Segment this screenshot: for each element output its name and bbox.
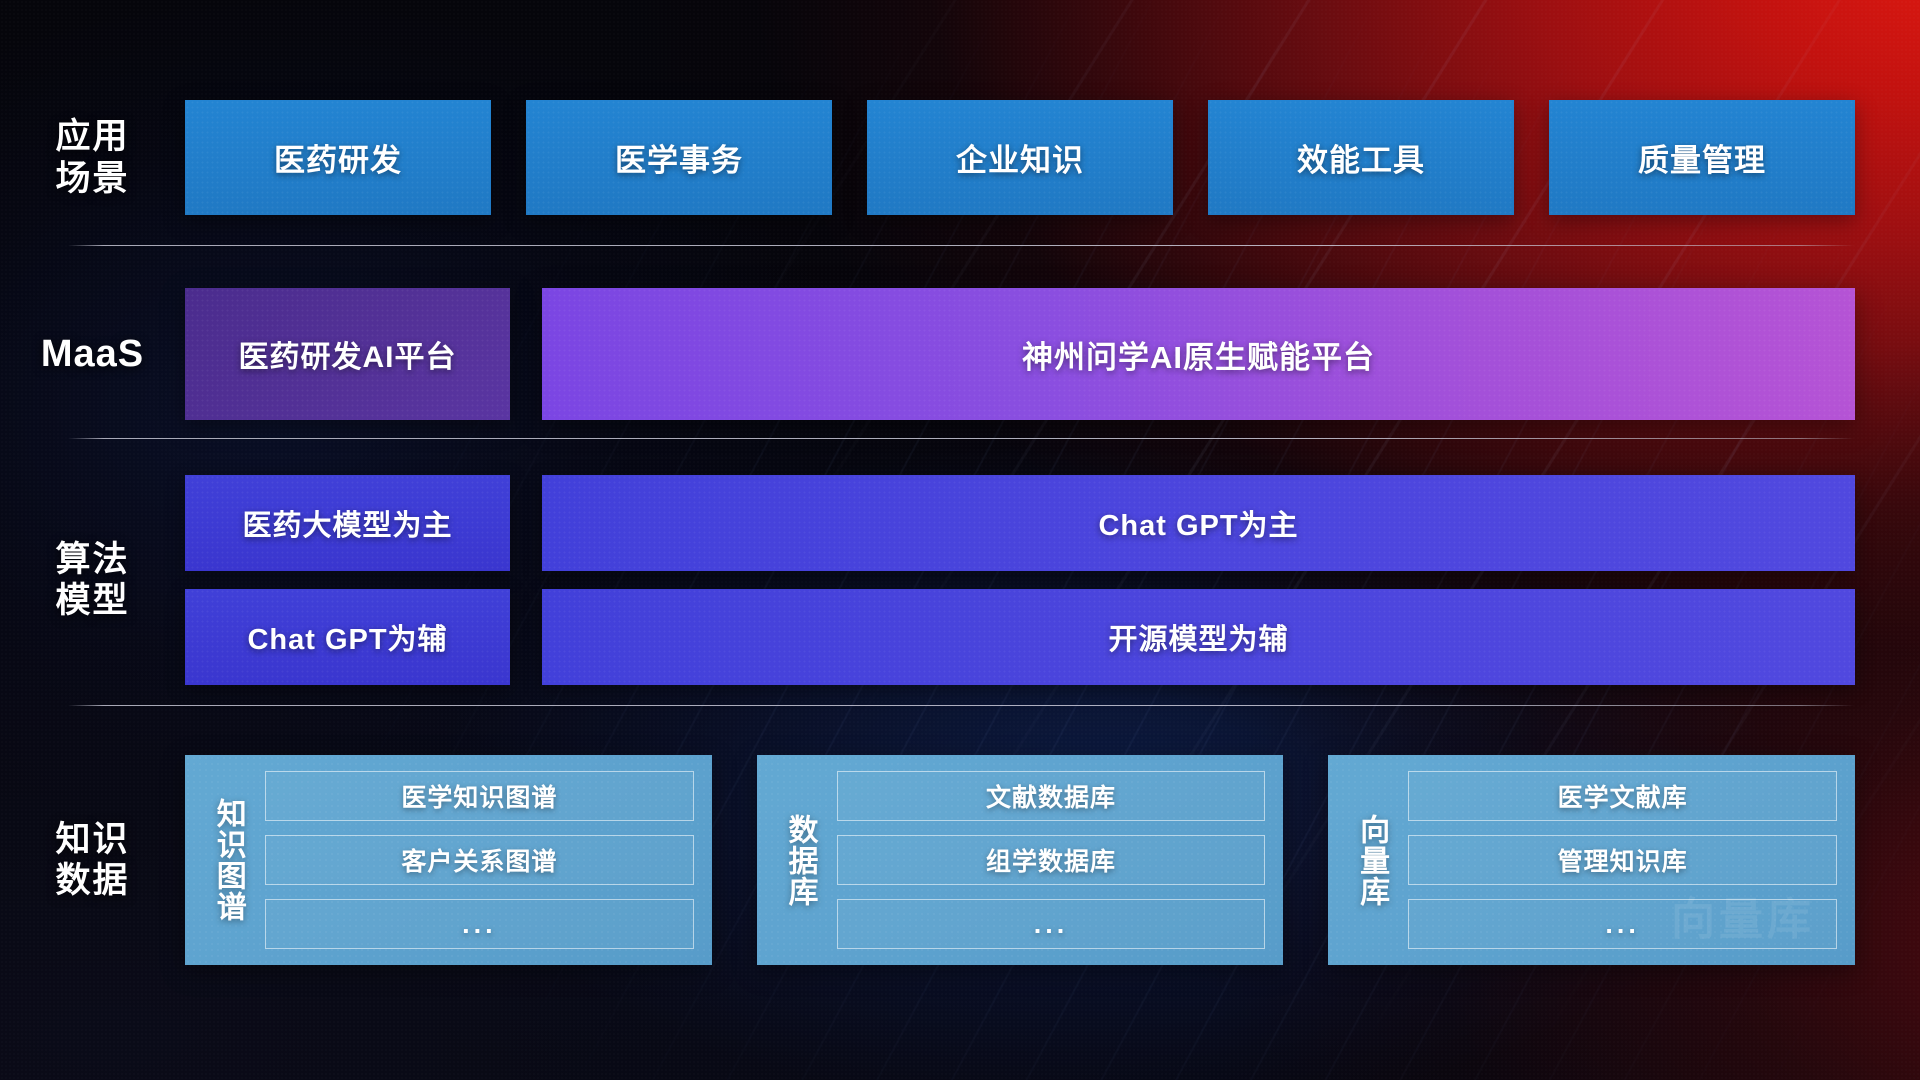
row-label-knowledge-data: 知识 数据 bbox=[0, 819, 185, 902]
row-knowledge-data: 知识 数据 知识图谱 医学知识图谱 客户关系图谱 ... 数据库 文献数据库 bbox=[0, 735, 1920, 985]
row-body-application-scenarios: 医药研发 医学事务 企业知识 效能工具 质量管理 bbox=[185, 100, 1920, 215]
knowledge-item-more-knowledge-graph[interactable]: ... bbox=[265, 899, 694, 949]
algo-box-chatgpt-secondary[interactable]: Chat GPT为辅 bbox=[185, 589, 510, 685]
knowledge-group-title-vector-store: 向量库 bbox=[1334, 771, 1408, 949]
row-body-maas: 医药研发AI平台 神州问学AI原生赋能平台 bbox=[185, 288, 1920, 420]
row-maas: MaaS 医药研发AI平台 神州问学AI原生赋能平台 bbox=[0, 288, 1920, 420]
knowledge-item-more-database[interactable]: ... bbox=[837, 899, 1266, 949]
knowledge-item-customer-relation-graph[interactable]: 客户关系图谱 bbox=[265, 835, 694, 885]
knowledge-group-database[interactable]: 数据库 文献数据库 组学数据库 ... bbox=[757, 755, 1284, 965]
knowledge-group-items-knowledge-graph: 医学知识图谱 客户关系图谱 ... bbox=[265, 771, 694, 949]
diagram-body: 应用 场景 医药研发 医学事务 企业知识 效能工具 质量管理 MaaS 医药研发… bbox=[0, 0, 1920, 1080]
row-application-scenarios: 应用 场景 医药研发 医学事务 企业知识 效能工具 质量管理 bbox=[0, 100, 1920, 215]
knowledge-item-omics-database[interactable]: 组学数据库 bbox=[837, 835, 1266, 885]
maas-box-shenzhou-wenxue-platform[interactable]: 神州问学AI原生赋能平台 bbox=[542, 288, 1855, 420]
architecture-diagram-slide: 应用 场景 医药研发 医学事务 企业知识 效能工具 质量管理 MaaS 医药研发… bbox=[0, 0, 1920, 1080]
app-box-quality-management[interactable]: 质量管理 bbox=[1549, 100, 1855, 215]
knowledge-group-items-vector-store: 医学文献库 管理知识库 ... bbox=[1408, 771, 1837, 949]
maas-box-drug-rd-ai-platform[interactable]: 医药研发AI平台 bbox=[185, 288, 510, 420]
algo-box-chatgpt-primary[interactable]: Chat GPT为主 bbox=[542, 475, 1855, 571]
algo-box-pharma-llm-primary[interactable]: 医药大模型为主 bbox=[185, 475, 510, 571]
row-label-maas: MaaS bbox=[0, 332, 185, 377]
knowledge-item-more-vector-store[interactable]: ... bbox=[1408, 899, 1837, 949]
app-box-enterprise-knowledge[interactable]: 企业知识 bbox=[867, 100, 1173, 215]
divider-apps-maas bbox=[68, 245, 1854, 246]
knowledge-group-vector-store[interactable]: 向量库 医学文献库 管理知识库 ... 向量库 bbox=[1328, 755, 1855, 965]
app-box-drug-rd[interactable]: 医药研发 bbox=[185, 100, 491, 215]
app-box-efficiency-tools[interactable]: 效能工具 bbox=[1208, 100, 1514, 215]
knowledge-group-title-database: 数据库 bbox=[763, 771, 837, 949]
knowledge-group-knowledge-graph[interactable]: 知识图谱 医学知识图谱 客户关系图谱 ... bbox=[185, 755, 712, 965]
row-label-application-scenarios: 应用 场景 bbox=[0, 116, 185, 199]
knowledge-item-medical-literature-store[interactable]: 医学文献库 bbox=[1408, 771, 1837, 821]
divider-algo-knowledge bbox=[68, 705, 1854, 706]
knowledge-item-literature-database[interactable]: 文献数据库 bbox=[837, 771, 1266, 821]
algo-line-primary: 医药大模型为主 Chat GPT为主 bbox=[185, 475, 1855, 571]
algo-line-secondary: Chat GPT为辅 开源模型为辅 bbox=[185, 589, 1855, 685]
row-body-knowledge-data: 知识图谱 医学知识图谱 客户关系图谱 ... 数据库 文献数据库 组学数据库 .… bbox=[185, 755, 1920, 965]
row-label-algorithm-models: 算法 模型 bbox=[0, 539, 185, 622]
knowledge-item-management-knowledge-store[interactable]: 管理知识库 bbox=[1408, 835, 1837, 885]
row-algorithm-models: 算法 模型 医药大模型为主 Chat GPT为主 Chat GPT为辅 开源模型… bbox=[0, 465, 1920, 695]
divider-maas-algo bbox=[68, 438, 1854, 439]
knowledge-item-medical-knowledge-graph[interactable]: 医学知识图谱 bbox=[265, 771, 694, 821]
knowledge-group-items-database: 文献数据库 组学数据库 ... bbox=[837, 771, 1266, 949]
knowledge-group-title-knowledge-graph: 知识图谱 bbox=[191, 771, 265, 949]
algo-box-opensource-secondary[interactable]: 开源模型为辅 bbox=[542, 589, 1855, 685]
row-body-algorithm-models: 医药大模型为主 Chat GPT为主 Chat GPT为辅 开源模型为辅 bbox=[185, 475, 1920, 685]
app-box-medical-affairs[interactable]: 医学事务 bbox=[526, 100, 832, 215]
